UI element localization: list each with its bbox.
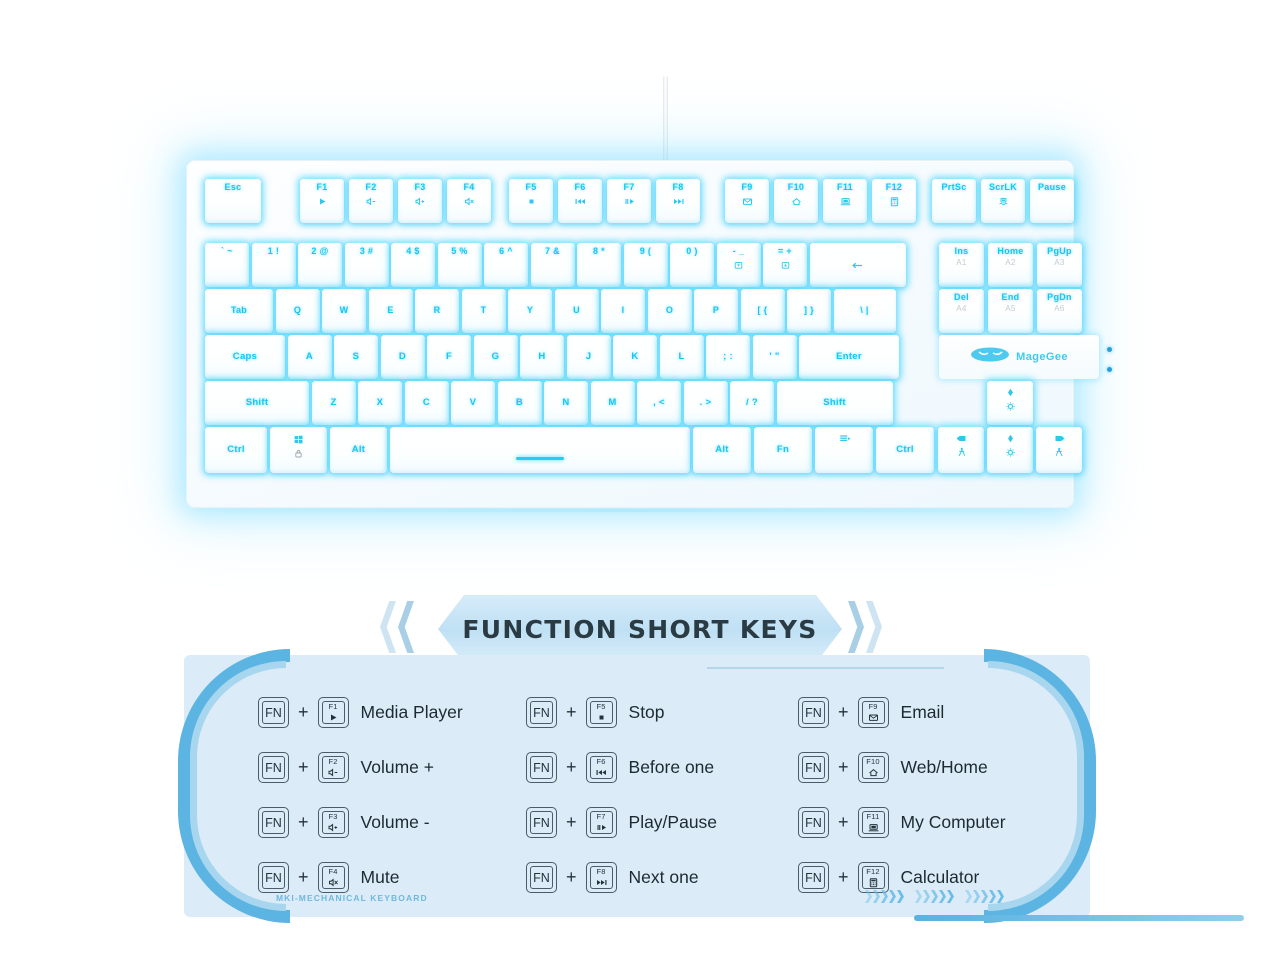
key-Shift-11[interactable]: Shift xyxy=(777,381,893,425)
menu-icon xyxy=(838,433,851,444)
arrow-left-icon xyxy=(955,433,968,444)
keycap-label: 6 ^ xyxy=(499,247,513,256)
function-key-glyph-f2: F2 xyxy=(318,752,349,783)
banner-chevrons-right xyxy=(848,601,882,653)
keycap-label: F1 xyxy=(316,183,327,192)
fn-key-glyph: FN xyxy=(258,697,289,728)
shortcut-row: FN + F11 My Computer xyxy=(798,795,1018,850)
key-Tab[interactable]: Tab xyxy=(205,289,273,333)
brightness-up-icon xyxy=(779,260,792,271)
mute-icon xyxy=(463,196,476,207)
shortcut-row: FN + F7 Play/Pause xyxy=(526,795,798,850)
key-f5[interactable]: F5 xyxy=(509,179,553,223)
keycap-label: S xyxy=(353,352,360,362)
shortcut-columns: FN + F1 Media PlayerFN + F2 Volume +FN +… xyxy=(258,685,1018,905)
key-arrow-right[interactable] xyxy=(1036,427,1082,473)
decor-ribbon xyxy=(914,915,1244,921)
keycap-label: E xyxy=(387,306,393,315)
keycap-label: F7 xyxy=(623,183,634,192)
key-F[interactable]: F xyxy=(427,335,471,379)
key-alt-2[interactable]: Alt xyxy=(330,427,387,473)
calculator-icon xyxy=(888,196,901,207)
fn-key-glyph: FN xyxy=(258,807,289,838)
key-[interactable]: ; : xyxy=(706,335,750,379)
keycap-label: F12 xyxy=(886,183,902,192)
key-K[interactable]: K xyxy=(613,335,657,379)
fn-key-glyph: FN xyxy=(798,862,829,893)
previous-track-icon xyxy=(587,767,616,778)
key-3#[interactable]: 3 # xyxy=(345,243,389,287)
key-7&[interactable]: 7 & xyxy=(531,243,575,287)
key-6^[interactable]: 6 ^ xyxy=(484,243,528,287)
key-arrow-left[interactable] xyxy=(938,427,984,473)
keycap-label: F2 xyxy=(365,183,376,192)
play-pause-icon xyxy=(623,196,636,207)
keycap-label: F5 xyxy=(525,183,536,192)
plus-sign: + xyxy=(838,867,849,888)
key-Y[interactable]: Y xyxy=(508,289,552,333)
keycap-label: 9 ( xyxy=(640,247,651,256)
keycap-label: 0 ) xyxy=(686,247,697,256)
keycap-label: O xyxy=(666,306,673,315)
shortcut-row: FN + F8 Next one xyxy=(526,850,798,905)
keycap-label: F3 xyxy=(414,183,425,192)
keycap-label: 7 & xyxy=(545,247,560,256)
computer-icon xyxy=(839,196,852,207)
function-key-glyph-f11: F11 xyxy=(858,807,889,838)
function-key-glyph-f10: F10 xyxy=(858,752,889,783)
key-del[interactable]: DelA4 xyxy=(939,289,984,333)
keyboard-reflection: EscF1F2F3F4F5F6F7F8F9F10F11F12PrtScScrLK… xyxy=(186,509,1074,593)
keycap-label: F10 xyxy=(788,183,804,192)
key-X-2[interactable]: X xyxy=(358,381,402,425)
volume-up-icon xyxy=(319,822,348,833)
brightness-icon xyxy=(1004,447,1017,458)
reflection-edge xyxy=(186,509,1074,512)
next-track-icon xyxy=(587,877,616,888)
next-track-icon xyxy=(672,196,685,207)
key-home[interactable]: HomeA2 xyxy=(988,243,1033,287)
key-H[interactable]: H xyxy=(520,335,564,379)
shortcut-description: Mute xyxy=(361,867,400,888)
keycap-label: H xyxy=(538,352,545,362)
key-[interactable]: ' " xyxy=(753,335,797,379)
shortcut-description: Next one xyxy=(629,867,699,888)
keycap-label: Caps xyxy=(233,352,257,362)
keycap-label: Z xyxy=(330,398,336,408)
keycap-label: / ? xyxy=(746,398,758,408)
keycap-sublabel: A6 xyxy=(1054,304,1064,313)
keycap-label: N xyxy=(562,398,569,408)
key-alt-4[interactable]: Alt xyxy=(693,427,751,473)
backspace-arrow-icon xyxy=(851,260,864,271)
volume-up-icon xyxy=(414,196,427,207)
key-E[interactable]: E xyxy=(369,289,413,333)
keycap-label: F6 xyxy=(574,183,585,192)
keycap-sublabel: A2 xyxy=(1005,258,1015,267)
keycap-label: Esc xyxy=(225,183,242,192)
keycap-label: C xyxy=(423,398,430,408)
key-9([interactable]: 9 ( xyxy=(624,243,668,287)
shortcut-row: FN + F6 Before one xyxy=(526,740,798,795)
keycap-label: J xyxy=(586,352,592,362)
keycap-label: ScrLK xyxy=(989,183,1017,192)
shortcut-description: Volume + xyxy=(361,757,434,778)
fn-key-glyph: FN xyxy=(258,862,289,893)
keycap-label: F4 xyxy=(463,183,474,192)
shortcut-row: FN + F1 Media Player xyxy=(258,685,526,740)
function-key-glyph-f6: F6 xyxy=(586,752,617,783)
home-icon xyxy=(790,196,803,207)
keycap-label: Fn xyxy=(777,445,789,455)
plus-sign: + xyxy=(838,702,849,723)
keycap-label: . > xyxy=(700,398,712,408)
shortcut-row: FN + F3 Volume - xyxy=(258,795,526,850)
key-pgdn[interactable]: PgDnA6 xyxy=(1037,289,1082,333)
key-G[interactable]: G xyxy=(474,335,518,379)
keycap-label: K xyxy=(631,352,638,362)
key--8[interactable]: , < xyxy=(637,381,681,425)
keycap-label: Ins xyxy=(955,247,969,256)
key-T[interactable]: T xyxy=(462,289,506,333)
key-Backspace[interactable] xyxy=(810,243,906,287)
keycap-label: Tab xyxy=(231,306,247,315)
key-J[interactable]: J xyxy=(567,335,611,379)
key-f8[interactable]: F8 xyxy=(656,179,700,223)
shortcut-description: Email xyxy=(901,702,945,723)
email-icon xyxy=(859,712,888,723)
keycap-label: F11 xyxy=(837,183,853,192)
key-2@[interactable]: 2 @ xyxy=(298,243,342,287)
key-fn-5[interactable]: Fn xyxy=(754,427,812,473)
plus-sign: + xyxy=(838,812,849,833)
keycap-label: Shift xyxy=(823,398,846,408)
windows-icon xyxy=(292,433,305,445)
keycap-label: F xyxy=(446,352,452,362)
keycap-label: 5 % xyxy=(451,247,467,256)
mechanical-keyboard: EscF1F2F3F4F5F6F7F8F9F10F11F12PrtScScrLK… xyxy=(186,160,1074,508)
play-icon xyxy=(316,196,329,207)
volume-down-icon xyxy=(319,767,348,778)
plus-sign: + xyxy=(566,867,577,888)
fn-key-glyph: FN xyxy=(798,807,829,838)
shortcut-row: FN + F2 Volume + xyxy=(258,740,526,795)
key-f4[interactable]: F4 xyxy=(447,179,491,223)
keycap-label: B xyxy=(516,398,523,408)
led-indicator-2 xyxy=(1107,367,1112,372)
brand-logo-plate: MageGee xyxy=(939,335,1099,379)
key-f10[interactable]: F10 xyxy=(774,179,818,223)
keycap-label: , < xyxy=(653,398,665,408)
keycap-sublabel: A3 xyxy=(1054,258,1064,267)
shortcut-row: FN + F9 Email xyxy=(798,685,1018,740)
keycap-label: ` ~ xyxy=(221,247,233,256)
arrow-down-icon xyxy=(1004,433,1017,444)
key-space[interactable] xyxy=(390,427,690,473)
key-B-5[interactable]: B xyxy=(498,381,542,425)
key-Caps[interactable]: Caps xyxy=(205,335,285,379)
keycap-label: Q xyxy=(294,306,301,315)
key-Q[interactable]: Q xyxy=(276,289,320,333)
lock-icon xyxy=(292,448,305,459)
speed-fast-icon xyxy=(1053,447,1066,458)
key-pause[interactable]: Pause xyxy=(1030,179,1074,223)
key-ctrl-7[interactable]: Ctrl xyxy=(876,427,934,473)
keycap-label: Pause xyxy=(1038,183,1066,192)
panel-divider xyxy=(707,667,944,669)
shortcut-description: Web/Home xyxy=(901,757,988,778)
key-ins[interactable]: InsA1 xyxy=(939,243,984,287)
function-key-glyph-f12: F12 xyxy=(858,862,889,893)
keycap-label: ' " xyxy=(769,352,779,362)
mute-icon xyxy=(319,877,348,888)
key-1![interactable]: 1 ! xyxy=(252,243,296,287)
keycap-label: P xyxy=(713,306,719,315)
key-8*[interactable]: 8 * xyxy=(577,243,621,287)
key-menu[interactable] xyxy=(815,427,873,473)
keycap-label: 3 # xyxy=(360,247,373,256)
plus-sign: + xyxy=(298,757,309,778)
stop-icon xyxy=(525,196,538,207)
function-key-glyph-f9: F9 xyxy=(858,697,889,728)
key-prtsc[interactable]: PrtSc xyxy=(932,179,976,223)
function-key-glyph-f3: F3 xyxy=(318,807,349,838)
key-f9[interactable]: F9 xyxy=(725,179,769,223)
product-footer-label: MKI-MECHANICAL KEYBOARD xyxy=(276,893,428,903)
shortcut-row: FN + F5 Stop xyxy=(526,685,798,740)
banner-plate: FUNCTION SHORT KEYS xyxy=(438,595,842,663)
keycap-label: I xyxy=(622,306,625,315)
keycap-label: [ { xyxy=(758,306,768,315)
key-P[interactable]: P xyxy=(694,289,738,333)
shortcut-description: Media Player xyxy=(361,702,463,723)
function-key-glyph-f4: F4 xyxy=(318,862,349,893)
fn-key-glyph: FN xyxy=(526,862,557,893)
keycap-label: Enter xyxy=(836,352,862,362)
play-pause-icon xyxy=(587,822,616,833)
keycap-sublabel: A1 xyxy=(956,258,966,267)
brand-name: MageGee xyxy=(1016,351,1068,363)
key-f7[interactable]: F7 xyxy=(607,179,651,223)
key-Z-1[interactable]: Z xyxy=(312,381,356,425)
key-f12[interactable]: F12 xyxy=(872,179,916,223)
shortcut-row: FN + F10 Web/Home xyxy=(798,740,1018,795)
key-f6[interactable]: F6 xyxy=(558,179,602,223)
key-[interactable]: [ { xyxy=(741,289,785,333)
plus-sign: + xyxy=(566,702,577,723)
keycap-label: 1 ! xyxy=(268,247,279,256)
calculator-icon xyxy=(859,877,888,888)
key-Enter[interactable]: Enter xyxy=(799,335,899,379)
arrow-right-icon xyxy=(1053,433,1066,444)
shortcut-column-2: FN + F5 StopFN + F6 Before oneFN + F7 xyxy=(526,685,798,905)
fn-key-glyph: FN xyxy=(526,807,557,838)
fn-key-glyph: FN xyxy=(258,752,289,783)
keycap-label: Alt xyxy=(352,445,366,455)
key-L[interactable]: L xyxy=(660,335,704,379)
shortcut-description: Play/Pause xyxy=(629,812,718,833)
function-key-glyph-f8: F8 xyxy=(586,862,617,893)
function-key-glyph-f5: F5 xyxy=(586,697,617,728)
function-short-keys-banner: FUNCTION SHORT KEYS xyxy=(380,595,900,663)
fn-key-glyph: FN xyxy=(526,697,557,728)
key-C-3[interactable]: C xyxy=(405,381,449,425)
keycap-label: Y xyxy=(527,306,533,315)
decor-arrow-groups xyxy=(865,890,1004,903)
computer-icon xyxy=(859,822,888,833)
keycap-label: L xyxy=(678,352,684,362)
keycap-label: Home xyxy=(997,247,1023,256)
key-W[interactable]: W xyxy=(322,289,366,333)
key-5%[interactable]: 5 % xyxy=(438,243,482,287)
keycap-label: F9 xyxy=(741,183,752,192)
key-`~[interactable]: ` ~ xyxy=(205,243,249,287)
keycap-label: = + xyxy=(778,247,792,256)
key-f1[interactable]: F1 xyxy=(300,179,344,223)
function-key-glyph-f1: F1 xyxy=(318,697,349,728)
keycap-label: D xyxy=(399,352,406,362)
keycap-label: A xyxy=(306,352,313,362)
key--_[interactable]: - _ xyxy=(717,243,761,287)
key-M-7[interactable]: M xyxy=(591,381,635,425)
keycap-label: ; : xyxy=(723,352,733,362)
key-4$[interactable]: 4 $ xyxy=(391,243,435,287)
shortcut-description: Stop xyxy=(629,702,665,723)
email-icon xyxy=(741,196,754,207)
key-Shift-0[interactable]: Shift xyxy=(205,381,309,425)
key-arrow-up[interactable] xyxy=(987,381,1033,425)
keycap-label: Shift xyxy=(246,398,269,408)
fn-key-glyph: FN xyxy=(798,697,829,728)
shortcut-description: Before one xyxy=(629,757,715,778)
plus-sign: + xyxy=(298,812,309,833)
keycap-label: 2 @ xyxy=(311,247,328,256)
key-V-4[interactable]: V xyxy=(451,381,495,425)
keycap-label: Del xyxy=(954,293,969,302)
plus-sign: + xyxy=(838,757,849,778)
plus-sign: + xyxy=(298,867,309,888)
home-icon xyxy=(859,767,888,778)
keycap-label: U xyxy=(573,306,580,315)
key-D[interactable]: D xyxy=(381,335,425,379)
led-indicator-1 xyxy=(1107,347,1112,352)
shortcut-description: Calculator xyxy=(901,867,980,888)
banner-chevrons-left xyxy=(380,601,414,653)
key-arrow-down[interactable] xyxy=(987,427,1033,473)
keycap-label: 4 $ xyxy=(406,247,419,256)
speed-slow-icon xyxy=(955,447,968,458)
keyboard-cable xyxy=(663,76,668,162)
brightness-icon xyxy=(1004,401,1017,412)
scroll-lock-icon xyxy=(997,196,1010,207)
shortcut-description: My Computer xyxy=(901,812,1006,833)
keycap-label: ] } xyxy=(804,306,814,315)
keycap-label: R xyxy=(434,306,441,315)
key-R[interactable]: R xyxy=(415,289,459,333)
keycap-label: G xyxy=(492,352,500,362)
keycap-label: Alt xyxy=(715,445,729,455)
key-=+[interactable]: = + xyxy=(763,243,807,287)
key-ctrl-0[interactable]: Ctrl xyxy=(205,427,267,473)
key-[interactable]: ] } xyxy=(787,289,831,333)
key--9[interactable]: . > xyxy=(684,381,728,425)
keycap-label: F8 xyxy=(672,183,683,192)
plus-sign: + xyxy=(566,812,577,833)
volume-down-icon xyxy=(365,196,378,207)
key-scrlk[interactable]: ScrLK xyxy=(981,179,1025,223)
key-win[interactable] xyxy=(270,427,327,473)
magegee-logo-icon xyxy=(970,346,1010,368)
keycap-label: \ | xyxy=(860,306,868,315)
function-shortcuts-panel: FN + F1 Media PlayerFN + F2 Volume +FN +… xyxy=(184,655,1090,917)
key--10[interactable]: / ? xyxy=(730,381,774,425)
keycap-label: PrtSc xyxy=(941,183,966,192)
keycap-sublabel: A5 xyxy=(1005,304,1015,313)
key-S[interactable]: S xyxy=(334,335,378,379)
plus-sign: + xyxy=(566,757,577,778)
plus-sign: + xyxy=(298,702,309,723)
key-f3[interactable]: F3 xyxy=(398,179,442,223)
previous-track-icon xyxy=(574,196,587,207)
key-I[interactable]: I xyxy=(601,289,645,333)
shortcut-column-1: FN + F1 Media PlayerFN + F2 Volume +FN +… xyxy=(258,685,526,905)
fn-key-glyph: FN xyxy=(526,752,557,783)
keycap-label: Ctrl xyxy=(227,445,245,455)
brightness-down-icon xyxy=(732,260,745,271)
banner-title: FUNCTION SHORT KEYS xyxy=(462,615,817,644)
keycap-label: M xyxy=(608,398,616,408)
keycap-label: Ctrl xyxy=(896,445,914,455)
keycap-label: T xyxy=(481,306,487,315)
keycap-label: V xyxy=(470,398,477,408)
keycap-sublabel: A4 xyxy=(956,304,966,313)
key-[interactable]: \ | xyxy=(834,289,896,333)
keycap-label: End xyxy=(1002,293,1020,302)
keycap-label: W xyxy=(340,306,349,315)
key-end[interactable]: EndA5 xyxy=(988,289,1033,333)
keycap-label: - _ xyxy=(733,247,744,256)
key-U[interactable]: U xyxy=(555,289,599,333)
key-f11[interactable]: F11 xyxy=(823,179,867,223)
key-pgup[interactable]: PgUpA3 xyxy=(1037,243,1082,287)
keycap-label: PgDn xyxy=(1047,293,1072,302)
key-A[interactable]: A xyxy=(288,335,332,379)
key-esc[interactable]: Esc xyxy=(205,179,261,223)
arrow-up-icon xyxy=(1004,387,1017,398)
shortcut-description: Volume - xyxy=(361,812,430,833)
play-icon xyxy=(319,712,348,723)
stop-icon xyxy=(587,712,616,723)
key-0)[interactable]: 0 ) xyxy=(670,243,714,287)
keycap-label: PgUp xyxy=(1047,247,1072,256)
key-f2[interactable]: F2 xyxy=(349,179,393,223)
key-O[interactable]: O xyxy=(648,289,692,333)
keycap-label: 8 * xyxy=(593,247,605,256)
key-N-6[interactable]: N xyxy=(544,381,588,425)
keycap-label: X xyxy=(377,398,384,408)
fn-key-glyph: FN xyxy=(798,752,829,783)
function-key-glyph-f7: F7 xyxy=(586,807,617,838)
shortcut-column-3: FN + F9 EmailFN + F10 Web/HomeFN + F11 xyxy=(798,685,1018,905)
